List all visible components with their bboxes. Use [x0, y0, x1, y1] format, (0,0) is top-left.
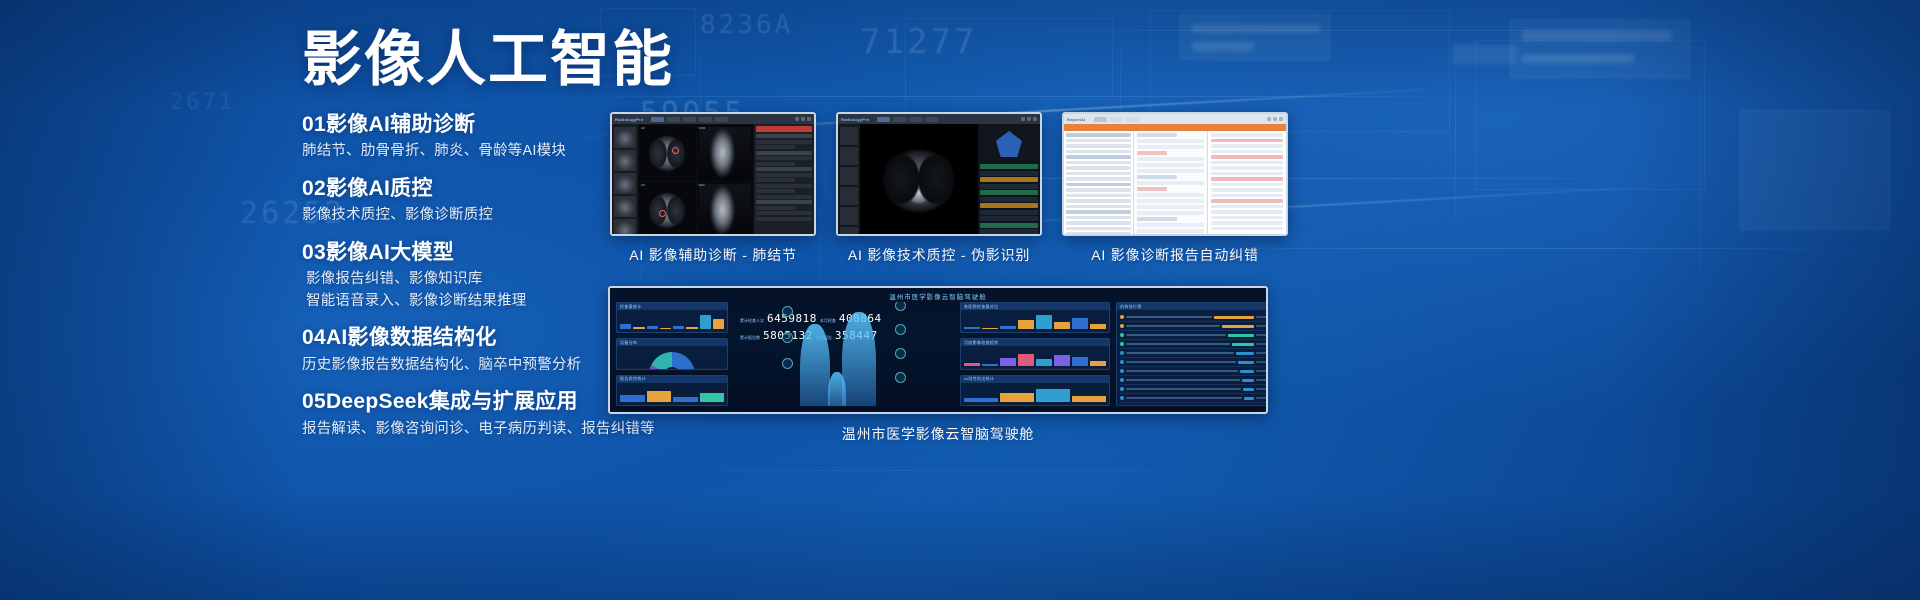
- list-item: [1120, 322, 1266, 331]
- dashboard-column-3: 各医院检查量对比: [960, 302, 1110, 406]
- list-item: [1120, 367, 1266, 376]
- window-titlebar-1: RadiologyPro: [612, 114, 814, 124]
- window-titlebar-2: RadiologyPro: [838, 114, 1040, 124]
- dashboard-card-bar-1[interactable]: 检查量统计: [616, 302, 728, 333]
- app-brand-label-1: RadiologyPro: [615, 117, 643, 122]
- window-controls-2[interactable]: [1021, 117, 1037, 121]
- ct-viewport-sagittal[interactable]: SAG: [697, 182, 754, 237]
- radar-chart: [980, 126, 1038, 162]
- metric-label-3: 累计报告数: [740, 335, 760, 341]
- qc-analysis-panel[interactable]: [978, 124, 1040, 236]
- dashboard-title: 温州市医学影像云智脑驾驶舱: [610, 291, 1266, 301]
- list-item: [1120, 385, 1266, 394]
- dashboard-column-4: 机构排行榜: [1116, 302, 1266, 406]
- qc-main-viewport[interactable]: [860, 124, 978, 236]
- list-item: [1120, 313, 1266, 322]
- window-titlebar-3: ReportAI: [1064, 114, 1286, 124]
- dashboard-caption: 温州市医学影像云智脑驾驶舱: [608, 424, 1268, 444]
- report-text-panel[interactable]: [1134, 131, 1208, 236]
- dashboard-card-bar-2[interactable]: 报告质控统计: [616, 375, 728, 406]
- app-brand-label-2: RadiologyPro: [841, 117, 869, 122]
- list-item: [1120, 340, 1266, 349]
- ct-viewport-axial-2[interactable]: AX: [639, 182, 696, 237]
- viewer-body-1: AX COR AX SAG: [612, 124, 814, 236]
- window-tabs-1: [651, 117, 728, 122]
- app-brand-label-3: ReportAI: [1067, 117, 1086, 122]
- dashboard-canvas: 温州市医学影像云智脑驾驶舱 检查量统计: [610, 288, 1266, 412]
- screenshot-caption-1: AI 影像辅助诊断 - 肺结节: [610, 245, 816, 265]
- list-item: [1120, 394, 1266, 403]
- dashboard-card-ranking[interactable]: 机构排行榜: [1116, 302, 1266, 406]
- screenshot-frame-1: RadiologyPro AX COR: [610, 112, 816, 236]
- dashboard-column-1: 检查量统计: [616, 302, 728, 406]
- screenshot-frame-3: ReportAI: [1062, 112, 1288, 236]
- dashboard-card-bar-3[interactable]: 各医院检查量对比: [960, 302, 1110, 333]
- report-worklist-panel[interactable]: [1064, 131, 1134, 236]
- screenshot-caption-2: AI 影像技术质控 - 伪影识别: [836, 245, 1042, 265]
- series-thumbnail-panel[interactable]: [612, 124, 638, 236]
- window-controls-3[interactable]: [1267, 117, 1283, 121]
- window-tabs-2: [877, 117, 938, 122]
- nodule-findings-panel[interactable]: [754, 124, 814, 236]
- list-item: [1120, 376, 1266, 385]
- list-item: [1120, 358, 1266, 367]
- viewer-body-2: [838, 124, 1040, 236]
- screenshot-caption-3: AI 影像诊断报告自动纠错: [1062, 245, 1288, 265]
- ct-image-grid[interactable]: AX COR AX SAG: [638, 124, 754, 236]
- window-tabs-3: [1094, 117, 1139, 122]
- screenshot-dashboard[interactable]: 温州市医学影像云智脑驾驶舱 检查量统计: [608, 286, 1268, 444]
- dashboard-card-bar-5[interactable]: AI阳性检出统计: [960, 375, 1110, 406]
- dashboard-hero-panel: 累计检查人次 6459818 本月检查 408864 累计报告数 5805132…: [734, 302, 954, 406]
- ct-viewport-coronal[interactable]: COR: [697, 125, 754, 181]
- ranking-list[interactable]: [1120, 313, 1266, 402]
- dashboard-frame: 温州市医学影像云智脑驾驶舱 检查量统计: [608, 286, 1268, 414]
- dashboard-column-2: 累计检查人次 6459818 本月检查 408864 累计报告数 5805132…: [734, 302, 954, 406]
- list-item: [1120, 331, 1266, 340]
- screenshot-ai-lung-nodule[interactable]: RadiologyPro AX COR: [610, 112, 816, 265]
- report-toolbar[interactable]: [1064, 124, 1286, 131]
- qc-thumbnail-panel[interactable]: [838, 124, 860, 236]
- human-body-visualization: [784, 302, 904, 406]
- dashboard-card-bar-4[interactable]: 月度影像检查趋势: [960, 338, 1110, 369]
- dashboard-grid: 检查量统计: [616, 302, 1260, 406]
- donut-chart: [649, 352, 695, 369]
- report-correction-panel[interactable]: [1208, 131, 1286, 236]
- list-item: [1120, 349, 1266, 358]
- report-body: [1064, 131, 1286, 236]
- page-title: 影像人工智能: [302, 28, 722, 92]
- ct-viewport-axial-1[interactable]: AX: [639, 125, 696, 181]
- screenshot-report-correction[interactable]: ReportAI: [1062, 112, 1288, 265]
- screenshot-frame-2: RadiologyPro: [836, 112, 1042, 236]
- metric-label-1: 累计检查人次: [740, 318, 764, 324]
- screenshot-ai-artifact-qc[interactable]: RadiologyPro: [836, 112, 1042, 265]
- dashboard-card-donut[interactable]: 设备分布: [616, 338, 728, 369]
- window-controls-1[interactable]: [795, 117, 811, 121]
